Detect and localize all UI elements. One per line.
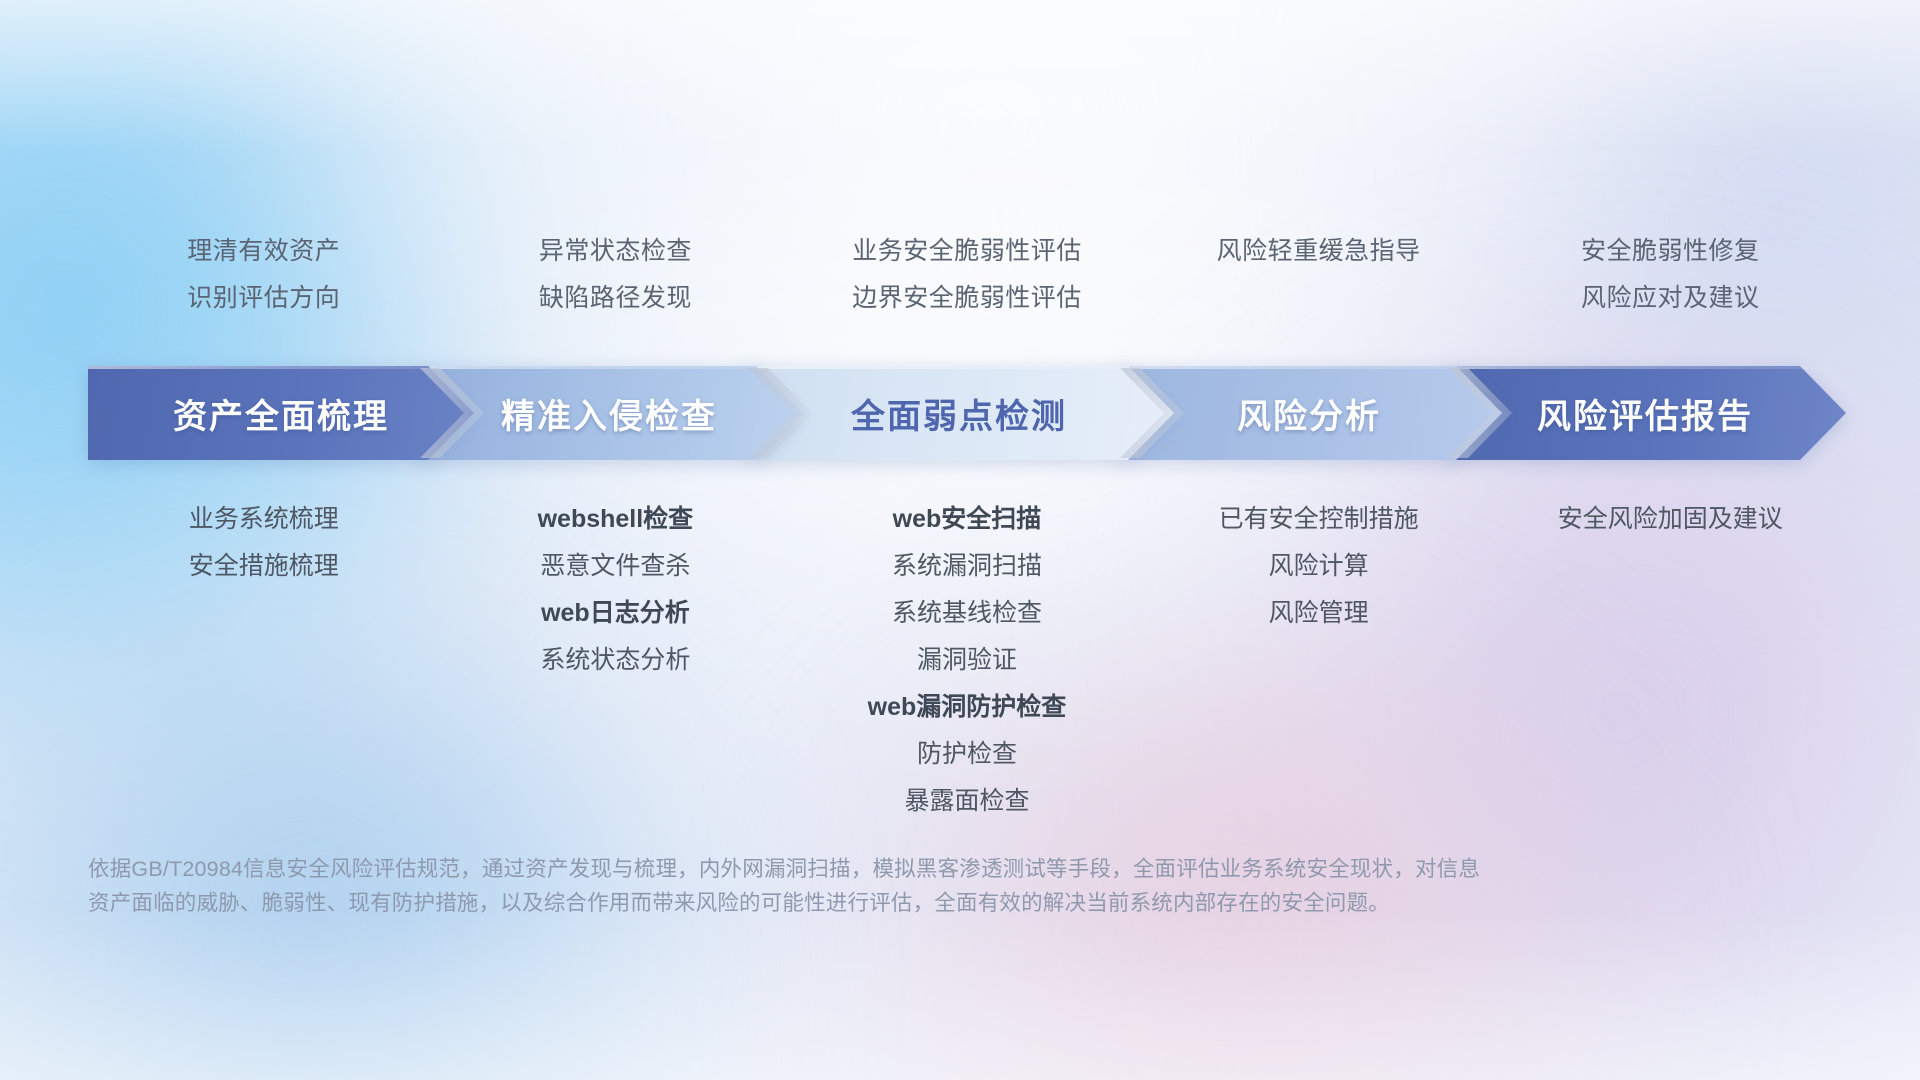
chevron-stage-asset-inventory[interactable]: 资产全面梳理	[88, 366, 474, 460]
list-item: 暴露面检查	[791, 778, 1143, 825]
stage-outcomes-weakness-detection: 业务安全脆弱性评估 边界安全脆弱性评估	[791, 228, 1143, 322]
list-item: 防护检查	[791, 731, 1143, 778]
list-item: 已有安全控制措施	[1143, 496, 1495, 543]
chevron-label: 全面弱点检测	[851, 389, 1067, 438]
list-item: 风险管理	[1143, 590, 1495, 637]
stage-activities-risk-analysis: 已有安全控制措施 风险计算 风险管理	[1143, 496, 1495, 637]
footer-description: 依据GB/T20984信息安全风险评估规范，通过资产发现与梳理，内外网漏洞扫描，…	[88, 852, 1508, 920]
chevron-label: 精准入侵检查	[501, 389, 717, 438]
stage-activities-intrusion-check: webshell检查 恶意文件查杀 web日志分析 系统状态分析	[440, 496, 792, 684]
outcome-text: 业务安全脆弱性评估	[791, 228, 1143, 275]
list-item: web安全扫描	[791, 496, 1143, 543]
outcome-text: 缺陷路径发现	[440, 275, 792, 322]
list-item: webshell检查	[440, 496, 792, 543]
stage-outcomes-risk-analysis: 风险轻重缓急指导	[1143, 228, 1495, 322]
outcome-text: 风险轻重缓急指导	[1143, 228, 1495, 275]
list-item: 安全风险加固及建议	[1494, 496, 1846, 543]
list-item: 安全措施梳理	[88, 543, 440, 590]
footer-line: 资产面临的威胁、脆弱性、现有防护措施，以及综合作用而带来风险的可能性进行评估，全…	[88, 886, 1508, 920]
stage-activities-weakness-detection: web安全扫描 系统漏洞扫描 系统基线检查 漏洞验证 web漏洞防护检查 防护检…	[791, 496, 1143, 825]
list-item: web日志分析	[440, 590, 792, 637]
stage-outcomes-asset-inventory: 理清有效资产 识别评估方向	[88, 228, 440, 322]
outcome-text: 边界安全脆弱性评估	[791, 275, 1143, 322]
chevron-stage-assessment-report[interactable]: 风险评估报告	[1444, 366, 1846, 460]
outcome-text: 识别评估方向	[88, 275, 440, 322]
list-item: 业务系统梳理	[88, 496, 440, 543]
chevron-label: 风险评估报告	[1537, 389, 1753, 438]
outcome-text: 安全脆弱性修复	[1494, 228, 1846, 275]
footer-line: 依据GB/T20984信息安全风险评估规范，通过资产发现与梳理，内外网漏洞扫描，…	[88, 852, 1508, 886]
list-item: 系统漏洞扫描	[791, 543, 1143, 590]
list-item: 系统状态分析	[440, 637, 792, 684]
chevron-stage-weakness-detection[interactable]: 全面弱点检测	[744, 366, 1174, 460]
chevron-label: 资产全面梳理	[173, 389, 389, 438]
chevron-label: 风险分析	[1237, 389, 1381, 438]
list-item: 系统基线检查	[791, 590, 1143, 637]
stage-activities-asset-inventory: 业务系统梳理 安全措施梳理	[88, 496, 440, 590]
stage-outcomes-assessment-report: 安全脆弱性修复 风险应对及建议	[1494, 228, 1846, 322]
stage-activities-row: 业务系统梳理 安全措施梳理 webshell检查 恶意文件查杀 web日志分析 …	[88, 496, 1846, 825]
outcome-text: 异常状态检查	[440, 228, 792, 275]
stage-activities-assessment-report: 安全风险加固及建议	[1494, 496, 1846, 543]
list-item: web漏洞防护检查	[791, 684, 1143, 731]
list-item: 恶意文件查杀	[440, 543, 792, 590]
outcome-text: 风险应对及建议	[1494, 275, 1846, 322]
list-item: 漏洞验证	[791, 637, 1143, 684]
list-item: 风险计算	[1143, 543, 1495, 590]
process-chevron-band: 资产全面梳理 精准入侵检查 全面弱点检测 风险分析 风险评估报告	[88, 366, 1846, 460]
stage-outcomes-intrusion-check: 异常状态检查 缺陷路径发现	[440, 228, 792, 322]
diagram-canvas: 理清有效资产 识别评估方向 异常状态检查 缺陷路径发现 业务安全脆弱性评估 边界…	[0, 0, 1920, 1080]
outcome-text: 理清有效资产	[88, 228, 440, 275]
stage-outcomes-row: 理清有效资产 识别评估方向 异常状态检查 缺陷路径发现 业务安全脆弱性评估 边界…	[88, 228, 1846, 322]
